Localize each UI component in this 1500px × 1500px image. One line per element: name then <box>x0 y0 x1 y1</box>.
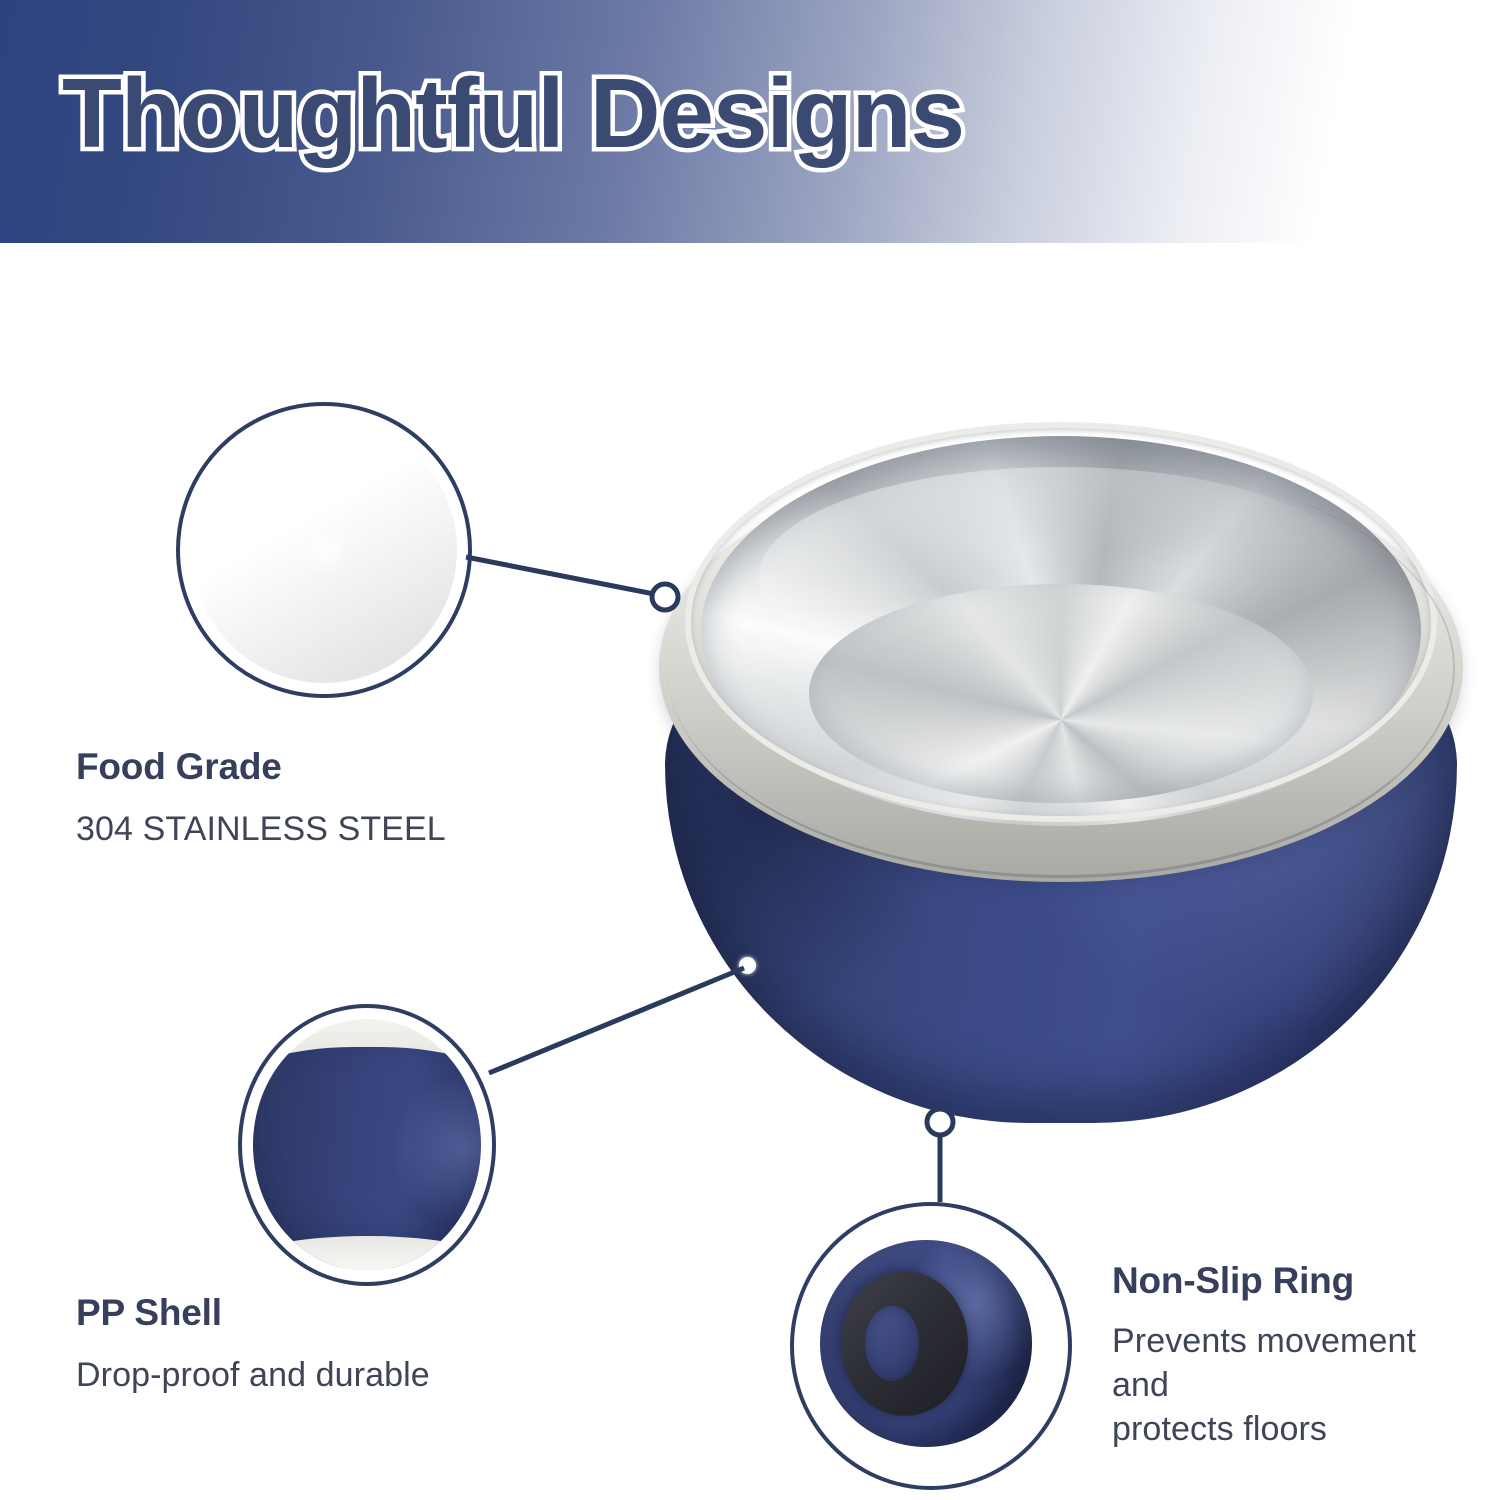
base-center-disc <box>865 1306 918 1381</box>
feature-title-pp-shell: PP Shell <box>76 1294 430 1331</box>
feature-label-food-grade: Food Grade 304 STAINLESS STEEL <box>76 748 446 851</box>
feature-label-non-slip-ring: Non-Slip Ring Prevents movement and prot… <box>1112 1262 1472 1452</box>
bowl-base-ring-icon <box>820 1240 1032 1446</box>
page-title: Thoughtful Designs <box>62 56 964 172</box>
feature-subtitle-pp-shell: Drop-proof and durable <box>76 1353 430 1397</box>
anchor-dot-pp-shell <box>739 957 756 974</box>
feature-label-pp-shell: PP Shell Drop-proof and durable <box>76 1294 430 1397</box>
callout-inner-non-slip-ring <box>805 1217 1057 1475</box>
feature-subtitle-food-grade: 304 STAINLESS STEEL <box>76 807 446 851</box>
callout-circle-non-slip-ring <box>790 1202 1072 1490</box>
connector-line-food-grade <box>466 557 654 594</box>
feature-title-food-grade: Food Grade <box>76 748 446 785</box>
feature-subtitle-non-slip-ring: Prevents movement and protects floors <box>1112 1319 1472 1452</box>
product-bowl-image <box>655 408 1467 1143</box>
callout-circle-pp-shell <box>238 1004 496 1286</box>
callout-inner-pp-shell <box>253 1019 481 1271</box>
callout-circle-food-grade <box>176 402 472 698</box>
infographic-page: Thoughtful Designs <box>0 0 1500 1500</box>
feature-subtitle-non-slip-ring-line1: Prevents movement and <box>1112 1319 1472 1407</box>
steel-disc-shading <box>191 417 457 683</box>
feature-subtitle-non-slip-ring-line2: protects floors <box>1112 1407 1472 1451</box>
bowl-rim-seam <box>667 458 1455 878</box>
feature-title-non-slip-ring: Non-Slip Ring <box>1112 1262 1472 1299</box>
header-banner: Thoughtful Designs <box>0 0 1500 243</box>
rubber-ring <box>841 1271 968 1415</box>
callout-inner-food-grade <box>191 417 457 683</box>
